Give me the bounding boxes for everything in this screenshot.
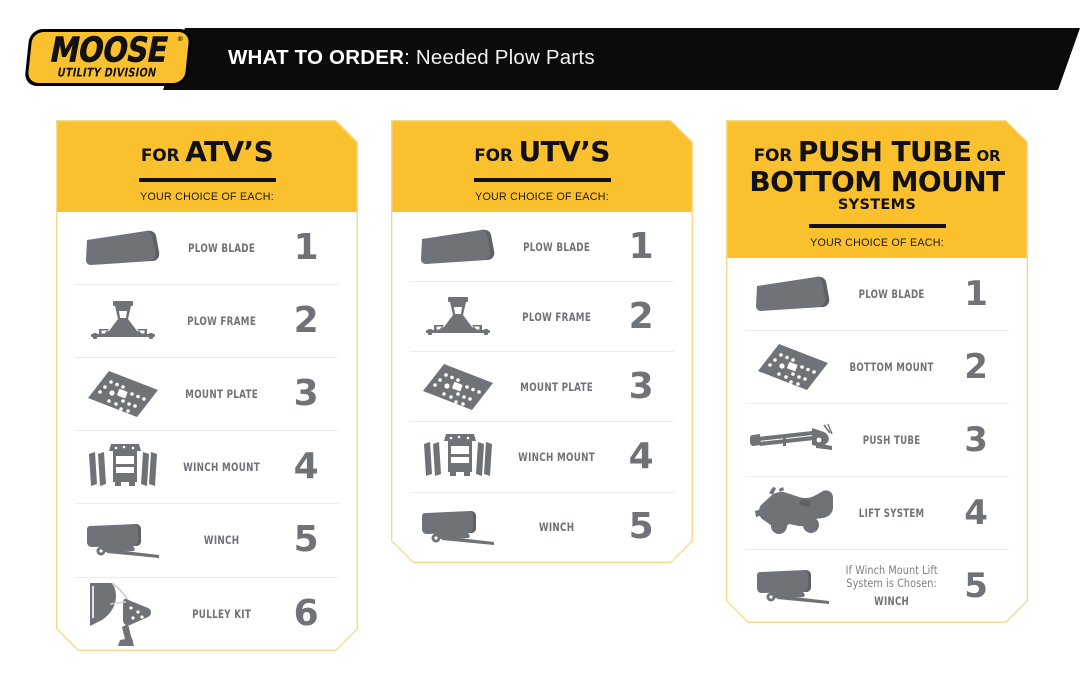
mount-plate-icon [410,361,506,413]
card-title-divider [139,178,276,182]
winch-icon [75,520,171,560]
part-label: PLOW BLADE [849,287,934,301]
list-item: PLOW BLADE1 [745,258,1008,330]
card-title-main: ATV’S [185,135,273,168]
winch-mount-icon [75,442,171,492]
push-tube-icon [745,423,841,457]
card-title-line2: BOTTOM MOUNT [749,165,1004,198]
card-title-prefix: FOR [141,146,185,166]
card-header-utv: FOR UTV’SYOUR CHOICE OF EACH: [392,121,691,212]
card-header-atv: FOR ATV’SYOUR CHOICE OF EACH: [57,121,356,212]
list-item: PULLEY KIT6 [75,577,338,650]
list-item: WINCH5 [75,503,338,576]
list-item: PLOW FRAME2 [75,284,338,357]
part-number: 2 [608,299,674,335]
part-label: WINCH MOUNT [514,450,599,464]
list-item: LIFT SYSTEM4 [745,476,1008,549]
parts-list-atv: PLOW BLADE1 PLOW FRAME2 MOUNT PLATE3 [57,212,356,650]
part-number: 2 [273,303,339,339]
part-number: 4 [273,449,339,485]
card-title-line3: SYSTEMS [749,198,1004,213]
part-label: BOTTOM MOUNT [849,360,934,374]
part-label: WINCH [179,533,264,547]
plow-blade-icon [75,229,171,267]
lift-system-icon [745,485,841,541]
card-subtitle: YOUR CHOICE OF EACH: [475,191,609,212]
card-utv: FOR UTV’SYOUR CHOICE OF EACH: PLOW BLADE… [391,120,693,563]
part-number: 4 [608,439,674,475]
part-number: 3 [943,423,1009,457]
part-number: 6 [273,596,339,632]
part-number: 1 [608,229,674,265]
card-subtitle: YOUR CHOICE OF EACH: [140,191,274,212]
plow-blade-icon [410,228,506,266]
list-item: MOUNT PLATE3 [75,357,338,430]
list-item: WINCH MOUNT4 [410,421,673,491]
card-title-divider [809,224,946,228]
list-item: PLOW BLADE1 [75,212,338,284]
winch-icon [745,566,841,606]
part-number: 5 [273,522,339,558]
card-subtitle: YOUR CHOICE OF EACH: [810,237,944,258]
plow-blade-icon [745,275,841,313]
part-label: PLOW FRAME [514,310,599,324]
list-item: PUSH TUBE3 [745,403,1008,476]
card-title-main: UTV’S [518,135,609,168]
card-title-prefix: FOR [474,146,518,166]
part-number: 1 [943,277,1009,311]
card-title-atv: FOR ATV’S [141,137,273,167]
infographic-page: WHAT TO ORDER: Needed Plow Parts MOOSE U… [0,0,1080,691]
list-item: If Winch Mount Lift System is Chosen:WIN… [745,549,1008,622]
winch-icon [410,507,506,547]
part-number: 3 [273,376,339,412]
list-item: WINCH MOUNT4 [75,430,338,503]
cards-container: FOR ATV’SYOUR CHOICE OF EACH: PLOW BLADE… [0,0,1080,691]
card-title-utv: FOR UTV’S [474,137,610,167]
part-number: 2 [943,350,1009,384]
parts-list-utv: PLOW BLADE1 PLOW FRAME2 MOUNT PLATE3 [392,212,691,562]
part-label: LIFT SYSTEM [849,506,934,520]
card-title-or: OR [971,147,1000,165]
part-number: 5 [943,569,1009,603]
card-title-divider [474,178,611,182]
part-number: 3 [608,369,674,405]
part-label: PLOW FRAME [179,314,264,328]
part-label: MOUNT PLATE [514,380,599,394]
card-title-push-tube: FOR PUSH TUBE ORBOTTOM MOUNTSYSTEMS [749,137,1004,213]
list-item: PLOW BLADE1 [410,212,673,281]
card-header-push-tube: FOR PUSH TUBE ORBOTTOM MOUNTSYSTEMSYOUR … [727,121,1026,258]
part-label: PLOW BLADE [514,240,599,254]
winch-mount-icon [410,432,506,482]
part-label: WINCH [514,520,599,534]
parts-list-push-tube: PLOW BLADE1 BOTTOM MOUNT2 PUSH TUBE3 [727,258,1026,622]
list-item: MOUNT PLATE3 [410,351,673,421]
part-number: 4 [943,496,1009,530]
part-label: PUSH TUBE [849,433,934,447]
card-title-prefix: FOR [754,146,798,166]
pulley-kit-icon [75,580,171,648]
plow-frame-icon [75,299,171,343]
mount-plate-icon [75,368,171,420]
card-title-main: PUSH TUBE [798,135,972,168]
part-number: 5 [608,509,674,545]
part-label: WINCH MOUNT [179,460,264,474]
part-label: PULLEY KIT [179,607,264,621]
list-item: BOTTOM MOUNT2 [745,330,1008,403]
bottom-mount-icon [745,341,841,393]
card-push-tube: FOR PUSH TUBE ORBOTTOM MOUNTSYSTEMSYOUR … [726,120,1028,623]
card-atv: FOR ATV’SYOUR CHOICE OF EACH: PLOW BLADE… [56,120,358,651]
part-condition-note: If Winch Mount Lift System is Chosen: [844,564,939,590]
list-item: PLOW FRAME2 [410,281,673,351]
part-label: MOUNT PLATE [179,387,264,401]
part-number: 1 [273,230,339,266]
part-label: PLOW BLADE [179,241,264,255]
plow-frame-icon [410,295,506,339]
part-label: If Winch Mount Lift System is Chosen:WIN… [849,564,934,608]
part-label-text: WINCH [849,594,934,608]
list-item: WINCH5 [410,492,673,562]
